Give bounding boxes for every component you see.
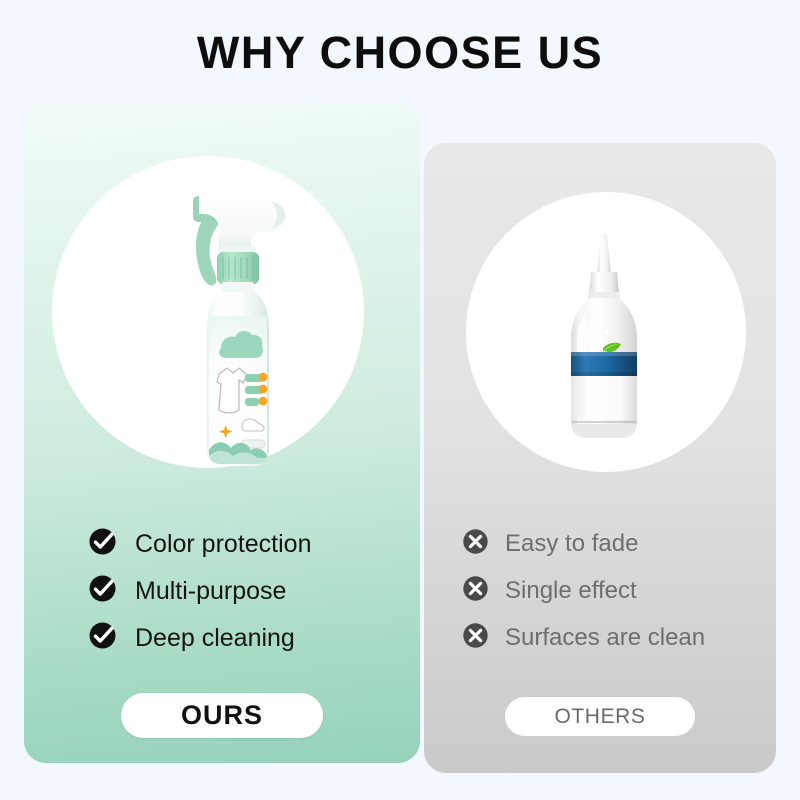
check-circle-icon xyxy=(88,621,117,655)
list-item-label: Deep cleaning xyxy=(135,624,295,652)
ours-badge-label: OURS xyxy=(181,700,263,731)
list-item-label: Color protection xyxy=(135,530,311,558)
cross-circle-icon xyxy=(462,622,489,654)
spray-bottle-image xyxy=(175,178,300,468)
cross-circle-icon xyxy=(462,528,489,560)
others-badge: OTHERS xyxy=(505,697,695,736)
list-item: Single effect xyxy=(462,567,772,614)
list-item-label: Single effect xyxy=(505,577,637,605)
list-item: Surfaces are clean xyxy=(462,614,772,661)
list-item-label: Multi-purpose xyxy=(135,577,286,605)
squeeze-bottle-image xyxy=(545,232,665,452)
list-item-label: Surfaces are clean xyxy=(505,624,705,652)
list-item: Easy to fade xyxy=(462,520,772,567)
ours-badge: OURS xyxy=(121,693,323,738)
list-item: Multi-purpose xyxy=(88,567,408,614)
others-badge-label: OTHERS xyxy=(554,705,645,729)
comparison-infographic: WHY CHOOSE US xyxy=(0,0,800,800)
page-title: WHY CHOOSE US xyxy=(0,24,800,82)
others-feature-list: Easy to fade Single effect Surfaces are … xyxy=(462,520,772,661)
list-item-label: Easy to fade xyxy=(505,530,638,558)
list-item: Color protection xyxy=(88,520,408,567)
list-item: Deep cleaning xyxy=(88,614,408,661)
ours-feature-list: Color protection Multi-purpose Deep clea… xyxy=(88,520,408,661)
check-circle-icon xyxy=(88,527,117,561)
cross-circle-icon xyxy=(462,575,489,607)
check-circle-icon xyxy=(88,574,117,608)
